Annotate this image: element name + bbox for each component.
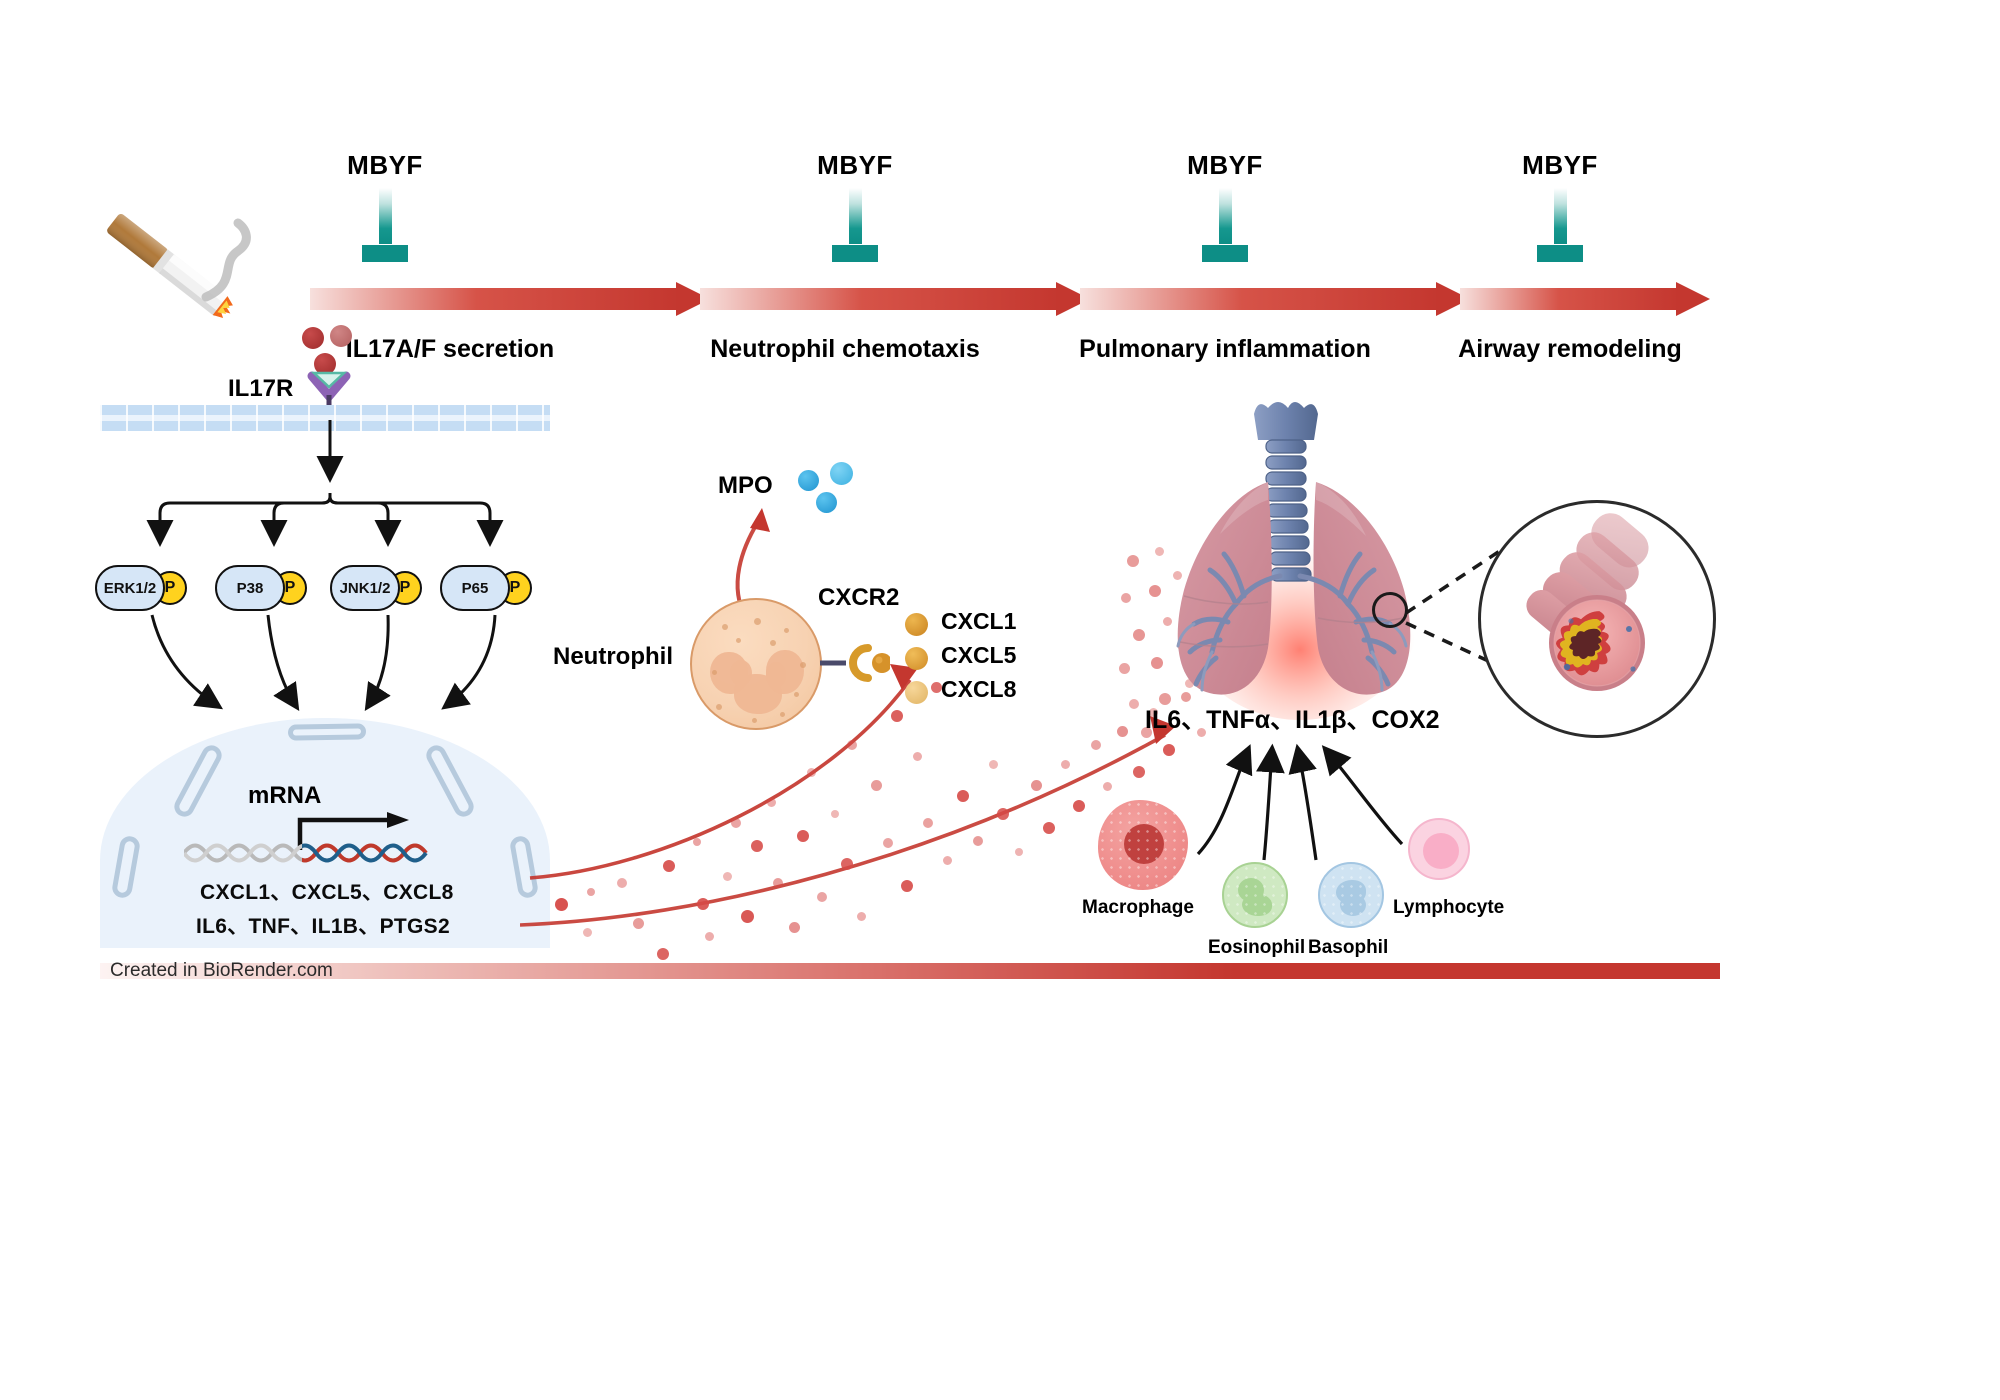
chemokine-label: CXCL1 (941, 608, 1016, 635)
mpo-dot (798, 470, 819, 491)
chemokine-label: CXCL8 (941, 676, 1016, 703)
inhibition-bar-icon (1537, 188, 1583, 262)
macrophage-label: Macrophage (1082, 897, 1194, 919)
ligand-dot (330, 325, 352, 347)
inhibitor-label: MBYF (330, 150, 440, 181)
eosinophil-label: Eosinophil (1208, 937, 1305, 959)
kinase-label: P65 (462, 580, 489, 597)
stage-label-inflammation: Pulmonary inflammation (1075, 335, 1375, 364)
inhibition-bar-icon (362, 188, 408, 262)
eosinophil-cell (1222, 862, 1288, 928)
inhibitor-mbyf-4: MBYF (1505, 150, 1615, 181)
process-arrow-segment-3 (1080, 282, 1470, 316)
biorender-watermark: Created in BioRender.com (110, 960, 333, 982)
process-arrow-segment-2 (700, 282, 1090, 316)
inhibition-bar-icon (1202, 188, 1248, 262)
cxcr2-receptor-icon (820, 642, 890, 684)
basophil-cell (1318, 862, 1384, 928)
basophil-label: Basophil (1308, 937, 1388, 959)
stage-label-remodeling: Airway remodeling (1435, 335, 1705, 364)
nuclear-pore (288, 723, 366, 740)
kinase-node-p38: P38 P (215, 565, 307, 611)
mpo-label: MPO (718, 472, 773, 500)
process-arrow-segment-1 (310, 282, 710, 316)
kinase-label: P38 (237, 580, 264, 597)
lymphocyte-cell (1408, 818, 1470, 880)
mpo-granule-group (798, 462, 860, 518)
stage-label-chemotaxis: Neutrophil chemotaxis (700, 335, 990, 364)
inhibition-bar-icon (832, 188, 878, 262)
inhibitor-mbyf-1: MBYF (330, 150, 440, 181)
footer-bar (100, 963, 1720, 979)
airway-remodeling-inset (1478, 500, 1716, 738)
gene-line-chemokines: CXCL1、CXCL5、CXCL8 (200, 876, 454, 906)
mpo-dot (816, 492, 837, 513)
mpo-dot (830, 462, 853, 485)
chemokine-dot-cxcl8 (905, 681, 928, 704)
lymphocyte-label: Lymphocyte (1393, 897, 1504, 919)
cxcr2-label: CXCR2 (818, 584, 899, 612)
kinase-node-jnk: JNK1/2 P (330, 565, 422, 611)
kinase-node-erk: ERK1/2 P (95, 565, 187, 611)
mrna-label: mRNA (248, 782, 321, 810)
il17r-label: IL17R (228, 375, 293, 403)
macrophage-cell (1098, 800, 1188, 890)
cigarette-illustration (88, 205, 258, 335)
inhibitor-label: MBYF (1505, 150, 1615, 181)
kinase-node-p65: P65 P (440, 565, 532, 611)
inhibitor-mbyf-2: MBYF (800, 150, 910, 181)
kinase-label: ERK1/2 (104, 580, 157, 597)
inhibitor-mbyf-3: MBYF (1170, 150, 1280, 181)
neutrophil-cell (690, 598, 822, 730)
lung-cytokine-label: IL6、TNFα、IL1β、COX2 (1145, 700, 1440, 736)
ligand-dot (302, 327, 324, 349)
gene-line-cytokines: IL6、TNF、IL1B、PTGS2 (196, 910, 450, 940)
chemokine-dot-cxcl1 (905, 613, 928, 636)
chemokine-label: CXCL5 (941, 642, 1016, 669)
dna-strand (184, 830, 454, 876)
process-arrow-segment-4 (1460, 282, 1710, 316)
nuclear-pore (171, 742, 225, 820)
inhibitor-label: MBYF (800, 150, 910, 181)
inhibitor-label: MBYF (1170, 150, 1280, 181)
nuclear-pore (423, 742, 477, 820)
neutrophil-label: Neutrophil (553, 643, 673, 671)
kinase-label: JNK1/2 (340, 580, 391, 597)
chemokine-dot-cxcl5 (905, 647, 928, 670)
figure-canvas: MBYF MBYF MBYF MBYF IL17A/F (0, 0, 2000, 1400)
nuclear-pore (111, 835, 141, 900)
chemokine-list: CXCL1 CXCL5 CXCL8 (905, 608, 1065, 710)
immune-cell-to-cytokine-arrows (1190, 742, 1430, 862)
